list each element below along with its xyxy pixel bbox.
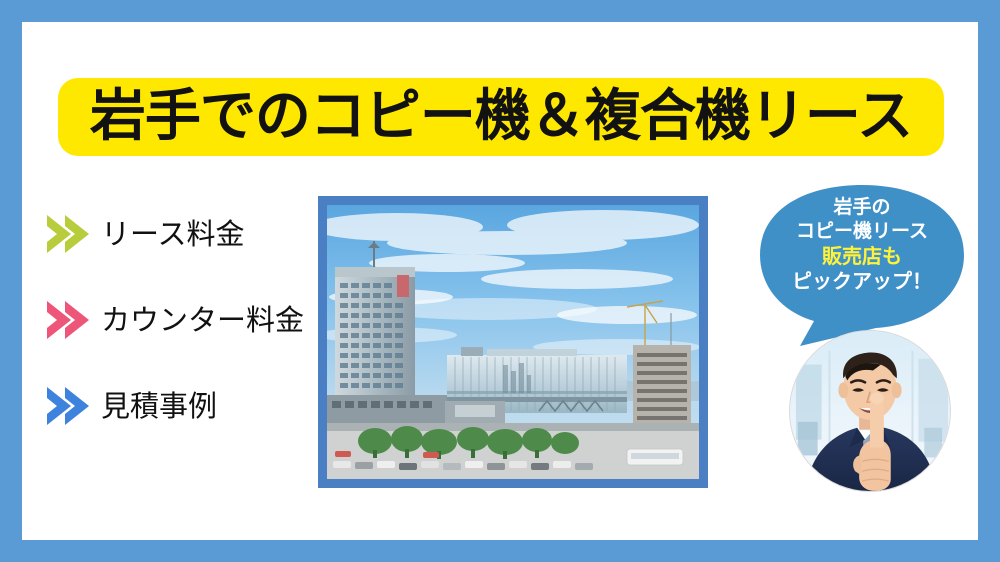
double-chevron-right-icon [45,299,97,341]
double-chevron-right-icon [45,385,97,427]
bubble-line-3-highlight: 販売店も [758,244,966,270]
list-item[interactable]: リース料金 [45,205,315,263]
bubble-line-4: ピックアップ！ [758,269,966,295]
list-item-label: カウンター料金 [101,306,304,335]
title-banner: 岩手でのコピー機＆複合機リース [58,78,944,156]
list-item-label: 見積事例 [101,392,217,421]
cityscape-photo [327,205,699,479]
speech-bubble: 岩手の コピー機リース 販売店も ピックアップ！ [758,183,966,348]
slide-canvas: 岩手でのコピー機＆複合機リース リース料金 カウンター料金 [0,0,1000,562]
border-bottom [0,540,1000,562]
double-chevron-right-icon [45,213,97,255]
bullet-list: リース料金 カウンター料金 見積事例 [45,205,315,463]
avatar [789,330,951,492]
list-item[interactable]: 見積事例 [45,377,315,435]
page-title: 岩手でのコピー機＆複合機リース [90,89,912,145]
list-item-label: リース料金 [101,220,245,249]
photo-frame [318,196,708,488]
bubble-line-1: 岩手の [758,195,966,219]
bubble-line-2: コピー機リース [758,219,966,243]
border-top [0,0,1000,22]
list-item[interactable]: カウンター料金 [45,291,315,349]
border-left [0,0,22,562]
border-right [978,0,1000,562]
speech-bubble-text: 岩手の コピー機リース 販売店も ピックアップ！ [758,195,966,295]
